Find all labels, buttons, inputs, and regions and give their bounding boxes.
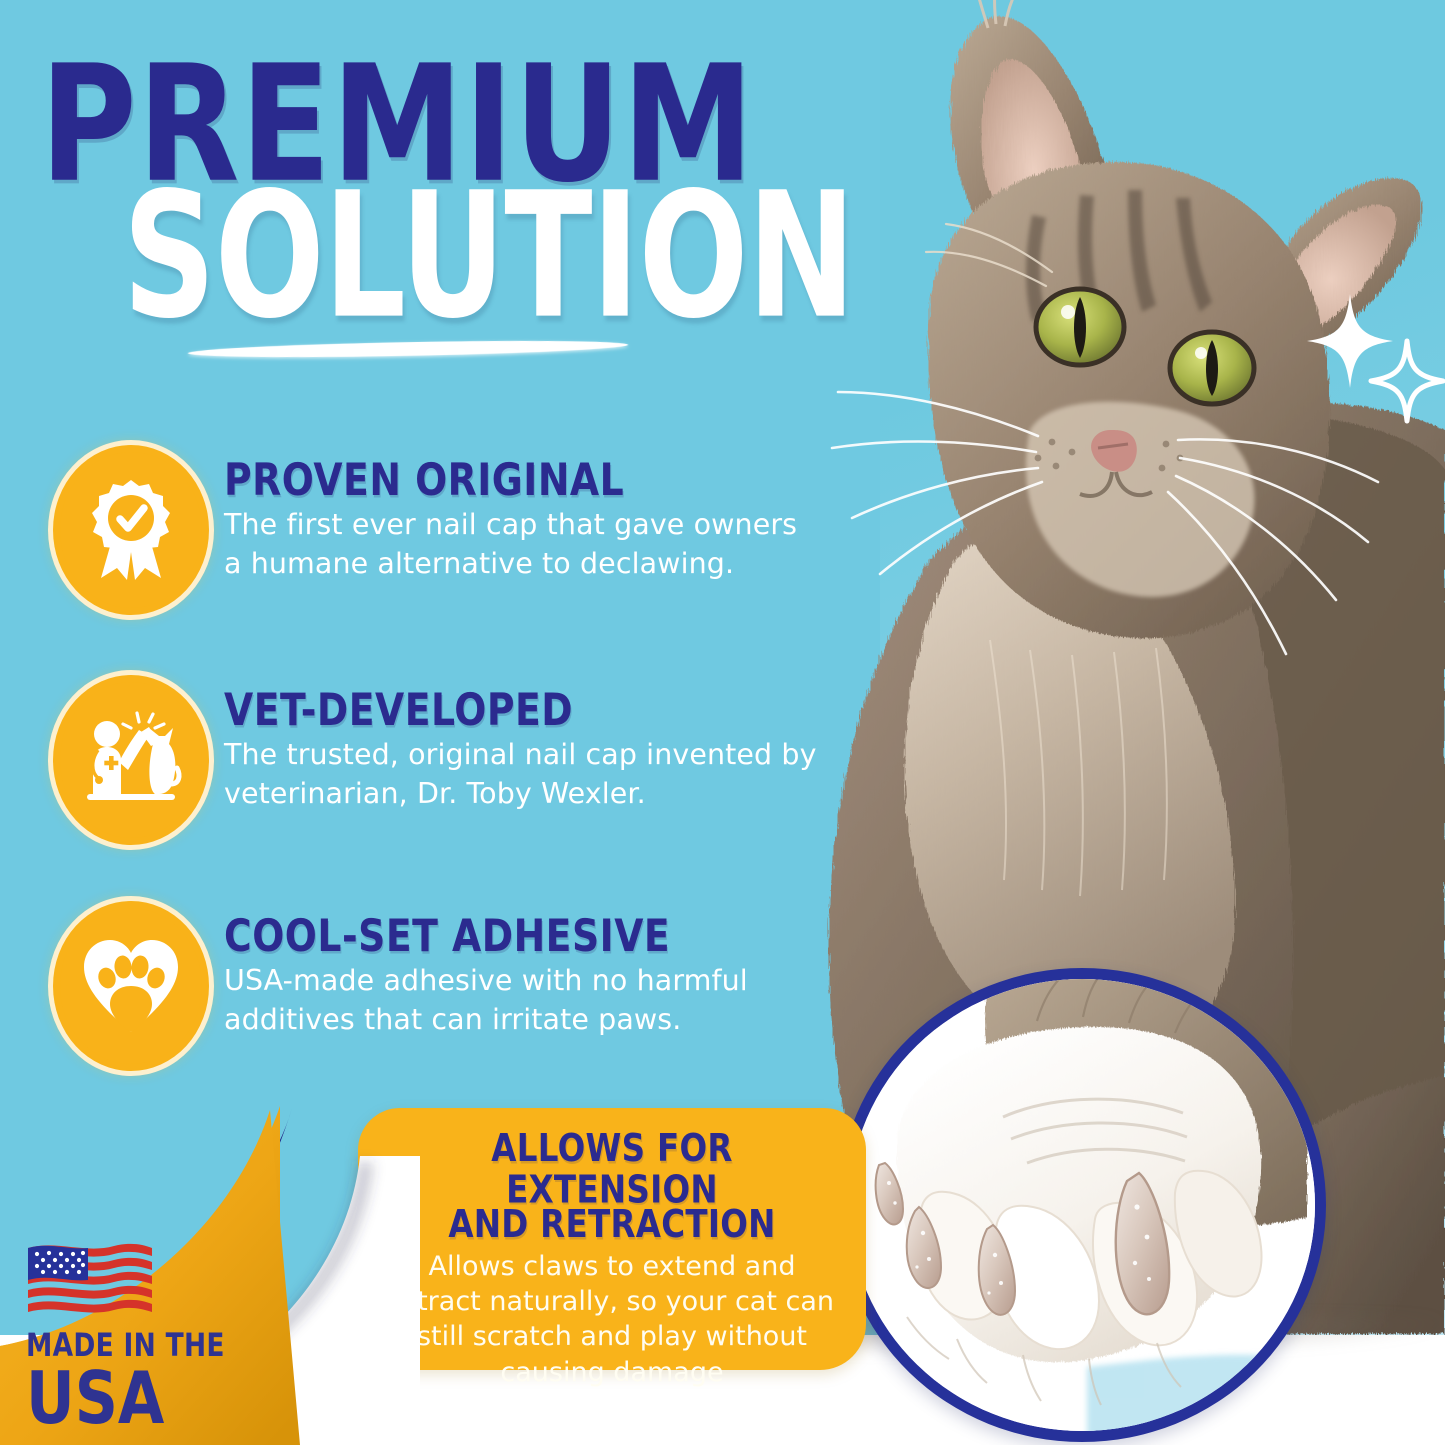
- vet-high-five-cat-icon: [60, 682, 202, 838]
- feature-heading: VET-DEVELOPED: [224, 688, 832, 733]
- feature-vet-developed: VET-DEVELOPED The trusted, original nail…: [60, 682, 820, 838]
- callout-heading-line1: ALLOWS FOR EXTENSION: [384, 1128, 840, 1211]
- usa-flag-icon: [26, 1236, 156, 1318]
- title-line-solution: SOLUTION: [40, 175, 888, 340]
- sparkle-outline-icon: [1368, 338, 1445, 424]
- feature-body: USA-made adhesive with no harmful additi…: [224, 961, 799, 1040]
- usa-label: USA: [26, 1363, 241, 1435]
- feature-heading: COOL-SET ADHESIVE: [224, 914, 832, 959]
- feature-heading: PROVEN ORIGINAL: [224, 458, 832, 503]
- poster-title: PREMIUM SOLUTION: [40, 48, 840, 291]
- extension-retraction-callout: ALLOWS FOR EXTENSION AND RETRACTION Allo…: [358, 1108, 866, 1370]
- feature-cool-set-adhesive: COOL-SET ADHESIVE USA-made adhesive with…: [60, 908, 820, 1064]
- product-infographic: PREMIUM SOLUTION PROVEN ORIGINAL The fir…: [0, 0, 1445, 1445]
- award-ribbon-icon: [60, 452, 202, 608]
- heart-paw-icon: [60, 908, 202, 1064]
- feature-body: The first ever nail cap that gave owners…: [224, 505, 799, 584]
- callout-heading-line2: AND RETRACTION: [384, 1204, 840, 1245]
- feature-proven-original: PROVEN ORIGINAL The first ever nail cap …: [60, 452, 820, 608]
- feature-body: The trusted, original nail cap invented …: [224, 735, 820, 814]
- callout-body: Allows claws to extend and retract natur…: [384, 1249, 840, 1389]
- cat-paw-nail-caps-inset: [838, 968, 1326, 1442]
- made-in-usa-badge: MADE IN THE USA: [26, 1236, 241, 1423]
